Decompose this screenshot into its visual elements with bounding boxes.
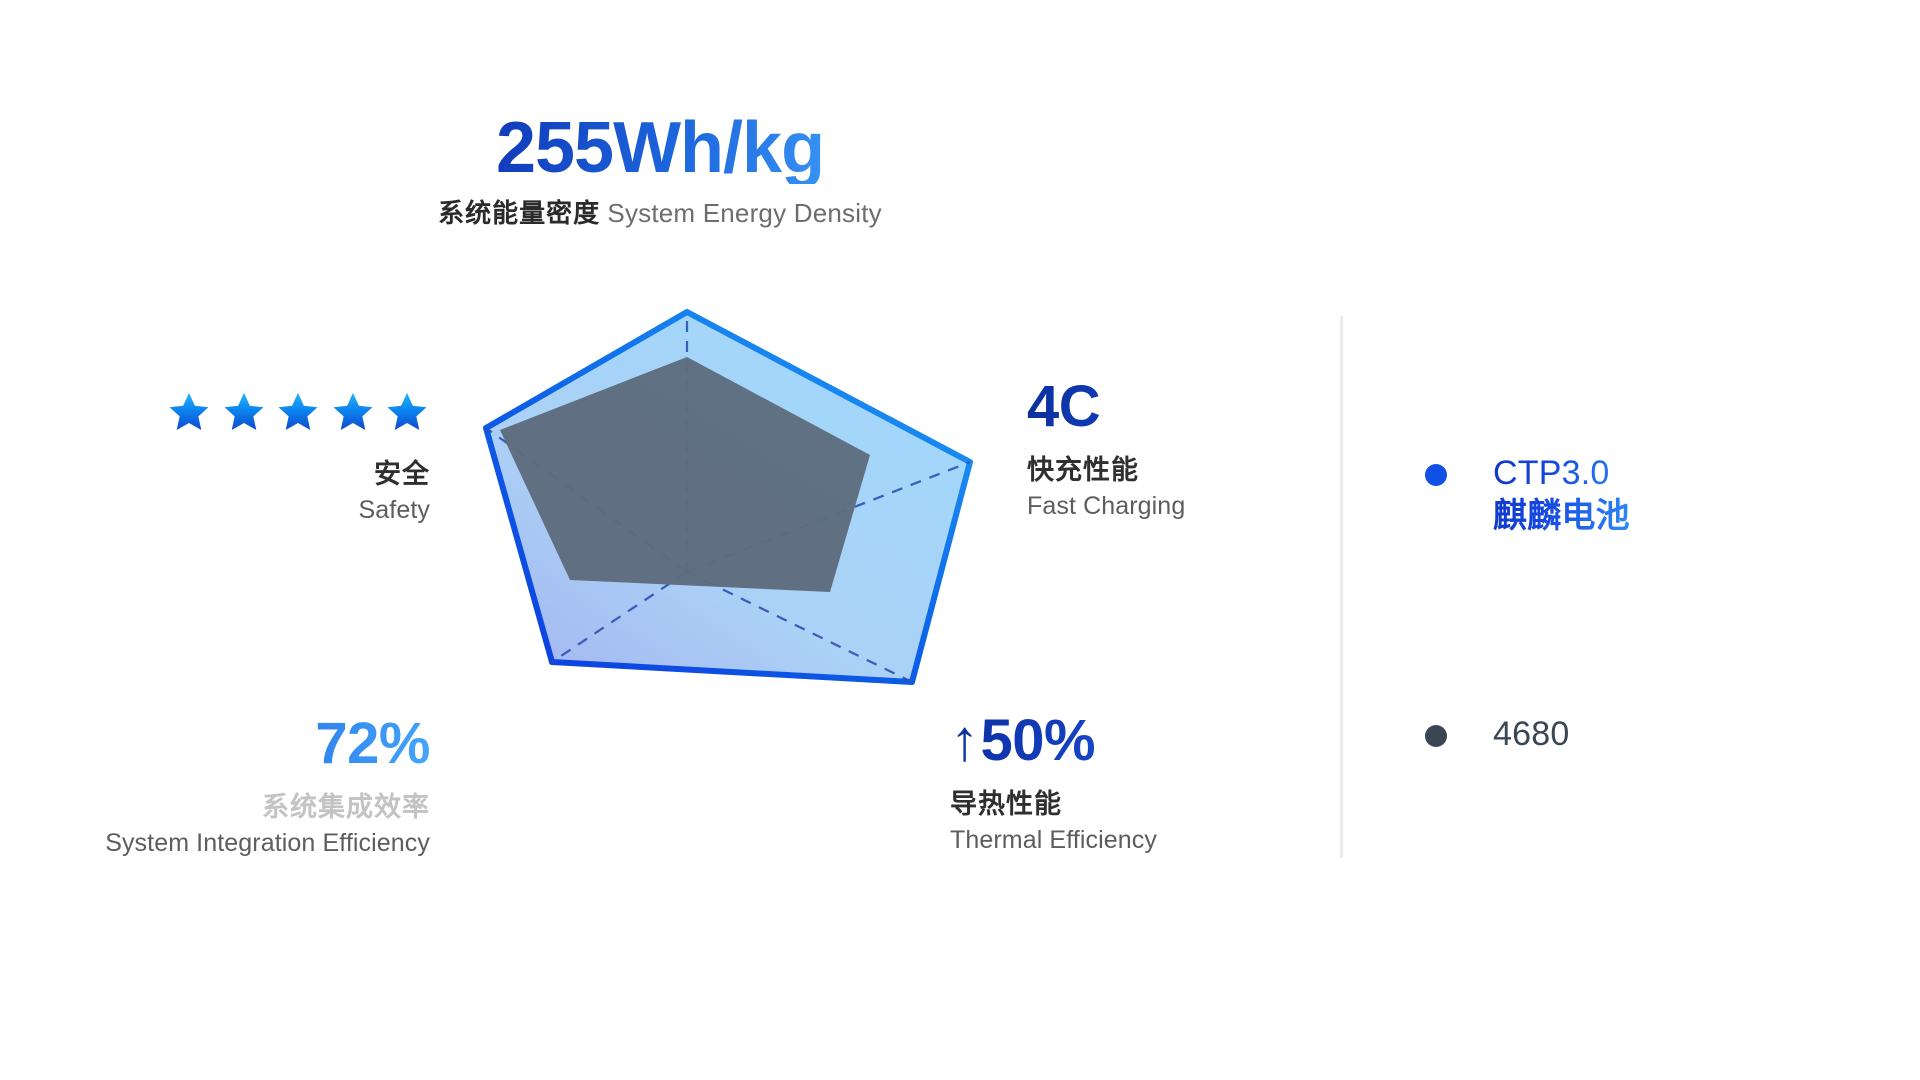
metric-safety-cn: 安全 xyxy=(0,458,430,492)
metric-thermal-efficiency: ↑50% 导热性能 Thermal Efficiency xyxy=(950,712,1380,856)
star-icon xyxy=(166,390,212,434)
energy-density-value: 255Wh/kg xyxy=(330,112,990,184)
metric-thermal-efficiency-value: ↑50% xyxy=(950,712,1380,770)
metric-fast-charging-cn: 快充性能 xyxy=(1027,454,1447,488)
energy-density-caption-en: System Energy Density xyxy=(607,198,881,228)
metric-thermal-efficiency-cn: 导热性能 xyxy=(950,788,1380,822)
star-icon xyxy=(221,390,267,434)
star-icon xyxy=(330,390,376,434)
metric-fast-charging-en: Fast Charging xyxy=(1027,490,1447,523)
legend-label-4680: 4680 xyxy=(1493,713,1569,756)
energy-density-caption-cn: 系统能量密度 xyxy=(438,198,600,228)
legend-label-ctp30-line2: 麒麟电池 xyxy=(1493,495,1630,538)
metric-thermal-efficiency-en: Thermal Efficiency xyxy=(950,824,1380,857)
energy-density-caption: 系统能量密度 System Energy Density xyxy=(330,198,990,229)
radar-chart-svg xyxy=(380,280,1020,710)
legend-item-ctp30: CTP3.0 麒麟电池 xyxy=(1425,452,1630,537)
star-icon xyxy=(275,390,321,434)
legend-dot-4680 xyxy=(1425,725,1447,747)
metric-safety-en: Safety xyxy=(0,494,430,527)
star-icon xyxy=(384,390,430,434)
headline-block: 255Wh/kg 系统能量密度 System Energy Density xyxy=(330,112,990,229)
chart-legend: CTP3.0 麒麟电池 4680 xyxy=(1425,452,1630,756)
legend-dot-ctp30 xyxy=(1425,464,1447,486)
arrow-up-icon: ↑ xyxy=(950,712,979,770)
slide-canvas: 255Wh/kg 系统能量密度 System Energy Density xyxy=(0,0,1920,1080)
legend-label-ctp30: CTP3.0 麒麟电池 xyxy=(1493,452,1630,537)
radar-chart xyxy=(380,280,1020,715)
metric-system-integration-value: 72% xyxy=(0,715,430,773)
legend-label-ctp30-line1: CTP3.0 xyxy=(1493,454,1609,492)
metric-fast-charging-value: 4C xyxy=(1027,378,1447,436)
legend-item-4680: 4680 xyxy=(1425,713,1630,756)
vertical-divider xyxy=(1340,316,1343,858)
metric-fast-charging: 4C 快充性能 Fast Charging xyxy=(1027,378,1447,522)
metric-thermal-efficiency-number: 50% xyxy=(981,708,1096,773)
safety-star-rating xyxy=(166,390,430,434)
metric-safety: 安全 Safety xyxy=(0,390,430,526)
metric-system-integration: 72% 系统集成效率 System Integration Efficiency xyxy=(0,715,430,859)
metric-system-integration-cn: 系统集成效率 xyxy=(0,791,430,825)
metric-system-integration-en: System Integration Efficiency xyxy=(0,827,430,860)
